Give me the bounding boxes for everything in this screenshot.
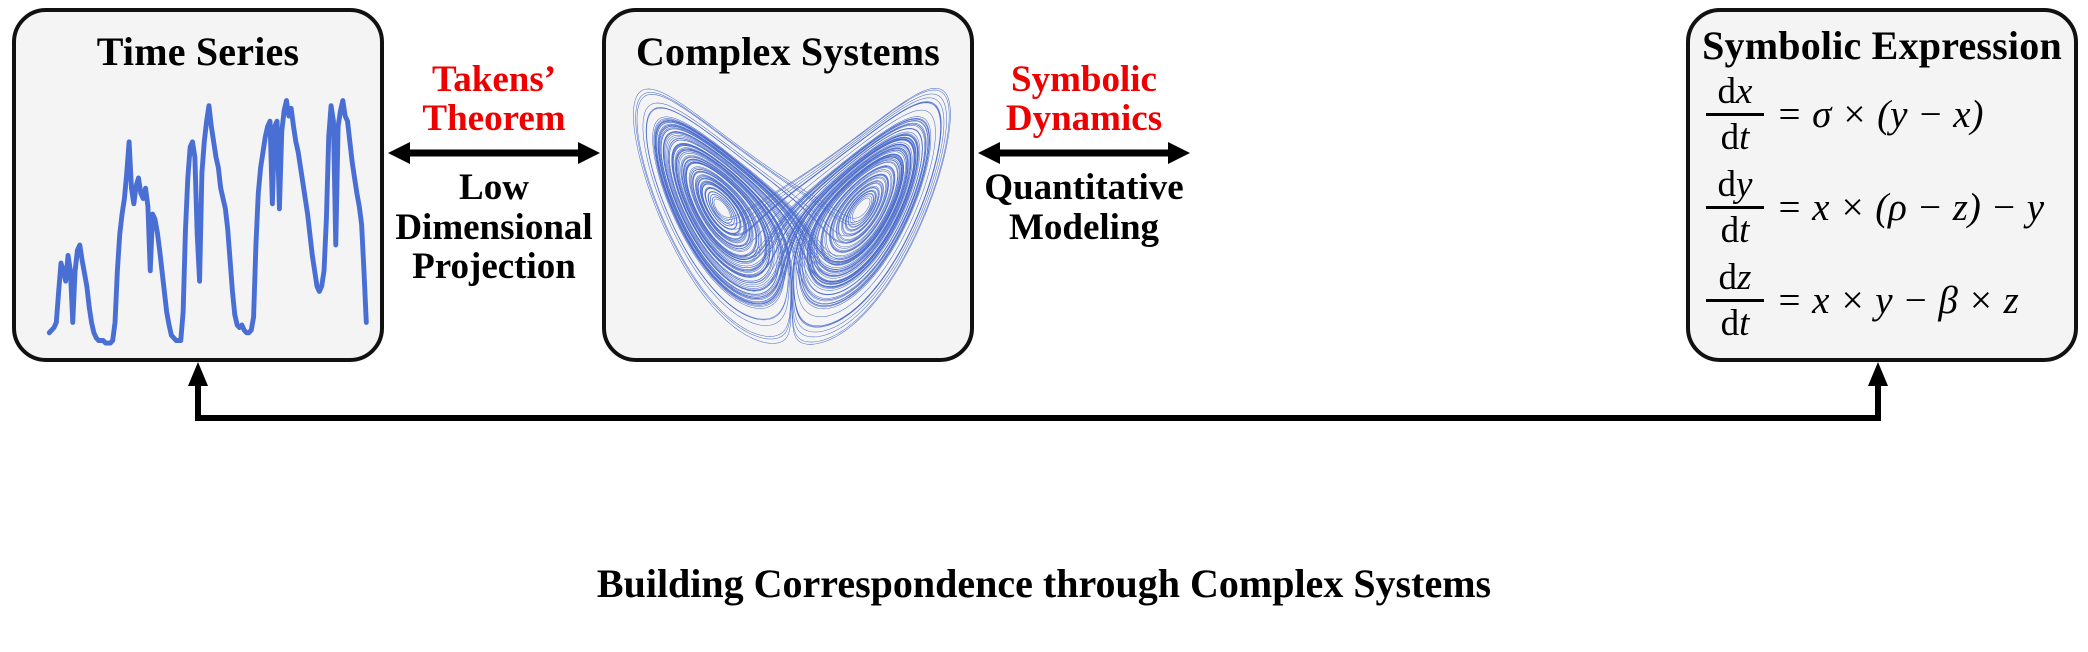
fraction-bar (1706, 206, 1764, 209)
eq-den-d: d (1721, 303, 1740, 344)
eq-den-d: d (1721, 210, 1740, 251)
equation-row: dx dt = σ × (y − x) (1700, 68, 2080, 161)
equation-rhs: = x × (ρ − z) − y (1776, 185, 2044, 230)
eq-den-var: t (1739, 117, 1749, 158)
eq-den-d: d (1721, 117, 1740, 158)
eq-num-d: d (1719, 257, 1738, 298)
eq-num-d: d (1718, 71, 1737, 112)
connector-takens: Takens’ Theorem Low Dimensional Projecti… (388, 60, 600, 286)
connector-symbolic-dynamics: Symbolic Dynamics Quantitative Modeling (978, 60, 1684, 247)
eq-num-var: y (1736, 164, 1752, 205)
caption-text: Building Correspondence through Complex … (0, 560, 2088, 607)
equation-row: dz dt = x × y − β × z (1700, 254, 2080, 347)
feedback-arrow-icon (0, 360, 2088, 460)
panel-title-symbolic-expression: Symbolic Expression (1690, 26, 2074, 66)
equation-list: dx dt = σ × (y − x) dy dt = x × (ρ − z) … (1700, 68, 2080, 347)
panel-time-series: Time Series (12, 8, 384, 362)
panel-complex-systems: Complex Systems (602, 8, 974, 362)
equation-row: dy dt = x × (ρ − z) − y (1700, 161, 2080, 254)
panel-title-complex-systems: Complex Systems (606, 32, 970, 72)
eq-num-var: z (1737, 257, 1751, 298)
eq-den-var: t (1739, 210, 1749, 251)
double-headed-arrow-icon-left (388, 138, 600, 168)
connector-right-top-label: Symbolic Dynamics (978, 60, 1190, 138)
diagram-canvas: Time Series Takens’ Theorem Low Dimensio… (0, 0, 2088, 652)
panel-title-time-series: Time Series (16, 32, 380, 72)
fraction-bar (1706, 299, 1764, 302)
derivative-fraction: dx dt (1706, 72, 1764, 157)
connector-right-bottom-label: Quantitative Modeling (978, 168, 1190, 246)
double-headed-arrow-icon-right (978, 138, 1190, 168)
derivative-fraction: dz dt (1706, 258, 1764, 343)
eq-num-var: x (1736, 71, 1752, 112)
eq-num-d: d (1718, 164, 1737, 205)
connector-left-top-label: Takens’ Theorem (388, 60, 600, 138)
connector-left-bottom-label: Low Dimensional Projection (388, 168, 600, 286)
equation-rhs: = x × y − β × z (1776, 278, 2019, 323)
equation-rhs: = σ × (y − x) (1776, 92, 1984, 137)
derivative-fraction: dy dt (1706, 165, 1764, 250)
eq-den-var: t (1739, 303, 1749, 344)
fraction-bar (1706, 113, 1764, 116)
